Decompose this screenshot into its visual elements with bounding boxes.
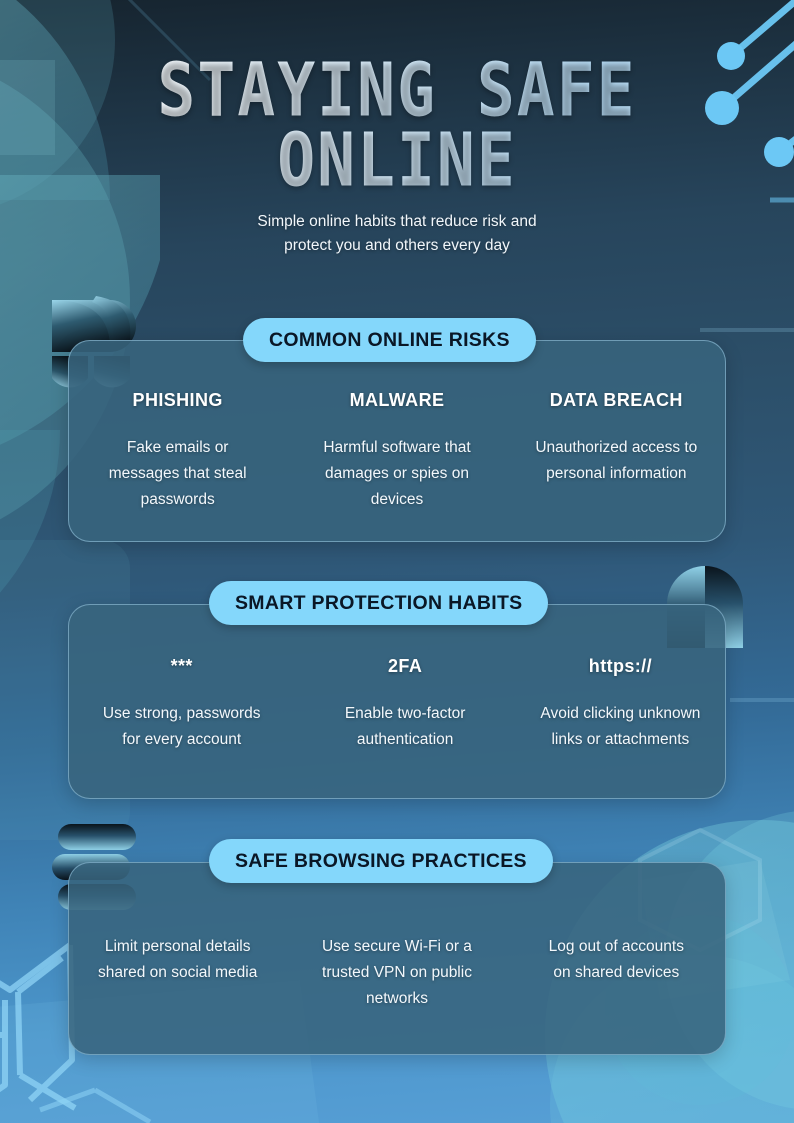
section-1-column-3-body: Unauthorized access to personal informat… <box>515 435 718 487</box>
subtitle-line-2: protect you and others every day <box>0 234 794 258</box>
section-1-column-2-head: MALWARE <box>295 390 498 411</box>
section-1-column-2: MALWARE Harmful software that damages or… <box>287 390 506 513</box>
title-line-1: STAYING SAFE <box>0 57 794 126</box>
section-2-column-1-head: *** <box>76 656 287 677</box>
page-subtitle: Simple online habits that reduce risk an… <box>0 210 794 258</box>
section-3-columns: Limit personal details shared on social … <box>68 934 726 1012</box>
section-1-column-1: PHISHING Fake emails or messages that st… <box>68 390 287 513</box>
section-3-column-2-body: Use secure Wi-Fi or a trusted VPN on pub… <box>295 934 498 1012</box>
section-3-column-3-body: Log out of accounts on shared devices <box>515 934 718 986</box>
title-line-2: ONLINE <box>0 126 794 195</box>
section-1-column-1-head: PHISHING <box>76 390 279 411</box>
section-2-column-2-head: 2FA <box>303 656 506 677</box>
section-3-column-3: Log out of accounts on shared devices <box>507 934 726 1012</box>
section-2-column-3-head: https:// <box>523 656 718 677</box>
section-1-column-3: DATA BREACH Unauthorized access to perso… <box>507 390 726 513</box>
section-2-column-3: https:// Avoid clicking unknown links or… <box>515 656 726 753</box>
section-1-badge[interactable]: COMMON ONLINE RISKS <box>243 318 536 362</box>
section-2-column-1-body: Use strong, passwords for every account <box>76 701 287 753</box>
section-3-badge[interactable]: SAFE BROWSING PRACTICES <box>209 839 553 883</box>
poster-canvas: STAYING SAFE ONLINE Simple online habits… <box>0 0 794 1123</box>
poster-header: STAYING SAFE ONLINE Simple online habits… <box>0 0 794 258</box>
section-3-column-1: Limit personal details shared on social … <box>68 934 287 1012</box>
section-1-column-1-body: Fake emails or messages that steal passw… <box>76 435 279 513</box>
section-1-columns: PHISHING Fake emails or messages that st… <box>68 390 726 513</box>
section-3-column-2: Use secure Wi-Fi or a trusted VPN on pub… <box>287 934 506 1012</box>
section-2-columns: *** Use strong, passwords for every acco… <box>68 656 726 753</box>
page-title: STAYING SAFE ONLINE <box>0 0 794 195</box>
section-3-column-1-body: Limit personal details shared on social … <box>76 934 279 986</box>
section-2-column-2-body: Enable two-factor authentication <box>303 701 506 753</box>
section-2-badge[interactable]: SMART PROTECTION HABITS <box>209 581 548 625</box>
subtitle-line-1: Simple online habits that reduce risk an… <box>0 210 794 234</box>
section-2-column-1: *** Use strong, passwords for every acco… <box>68 656 295 753</box>
section-1-column-2-body: Harmful software that damages or spies o… <box>295 435 498 513</box>
section-2-column-2: 2FA Enable two-factor authentication <box>295 656 514 753</box>
section-2-column-3-body: Avoid clicking unknown links or attachme… <box>523 701 718 753</box>
section-1-column-3-head: DATA BREACH <box>515 390 718 411</box>
